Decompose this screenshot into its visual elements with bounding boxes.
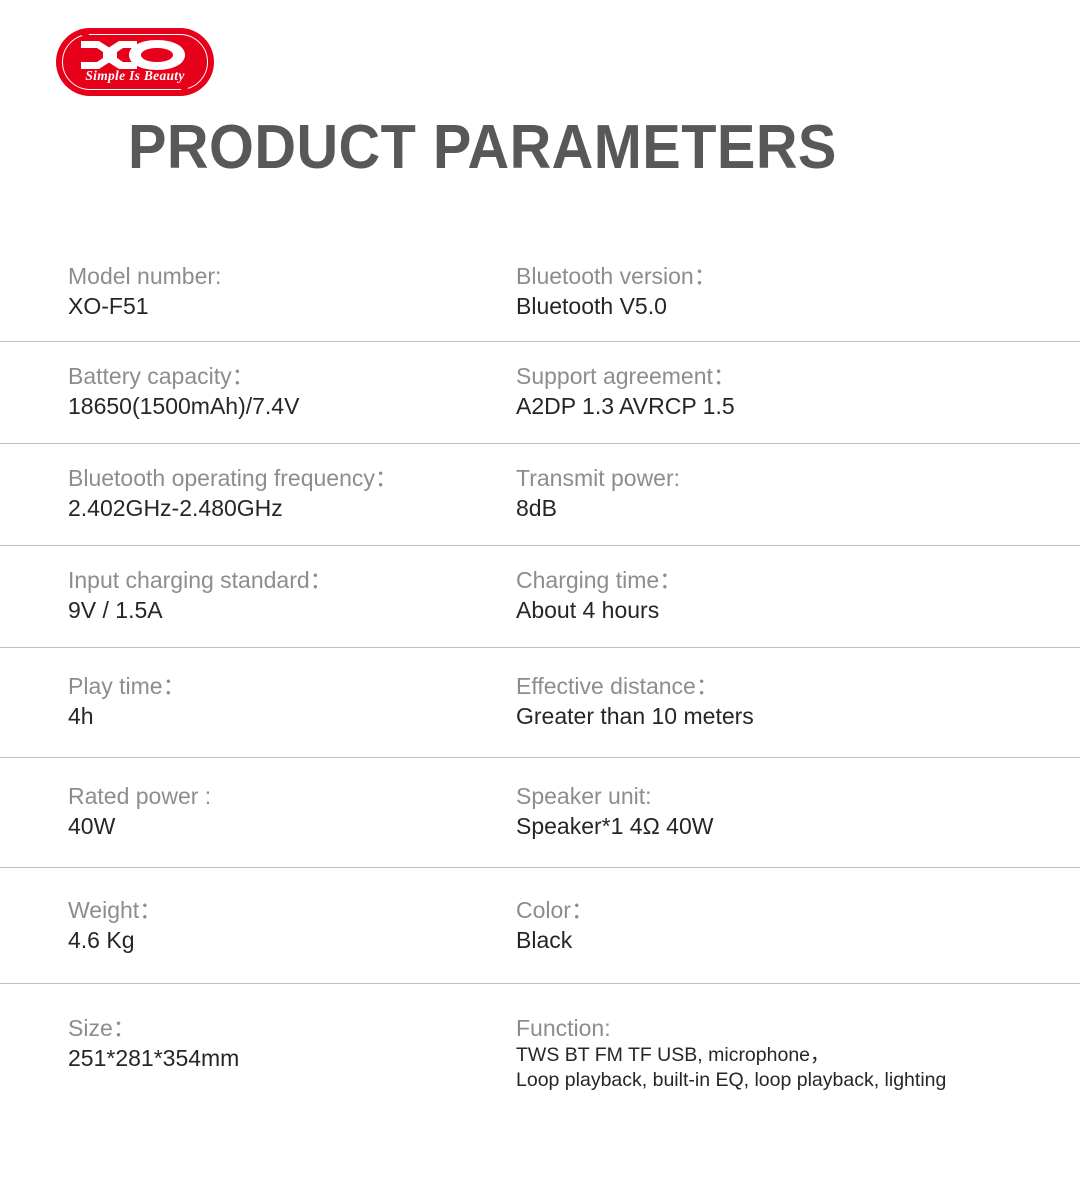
spec-cell-size: Size： 251*281*354mm <box>0 1014 516 1093</box>
spec-label: Size： <box>68 1014 516 1043</box>
spec-cell-function: Function: TWS BT FM TF USB, microphone， … <box>516 1014 1080 1093</box>
spec-cell-transmit-power: Transmit power: 8dB <box>516 464 1080 523</box>
spec-cell-input-charging-standard: Input charging standard： 9V / 1.5A <box>0 566 516 625</box>
spec-cell-support-agreement: Support agreement： A2DP 1.3 AVRCP 1.5 <box>516 362 1080 421</box>
spec-value: 18650(1500mAh)/7.4V <box>68 391 516 421</box>
spec-value: 9V / 1.5A <box>68 595 516 625</box>
spec-label: Play time： <box>68 672 516 701</box>
logo-notch-bottom-right <box>181 86 188 93</box>
spec-cell-model-number: Model number: XO-F51 <box>0 262 516 321</box>
xo-monogram-icon <box>79 39 191 71</box>
spec-cell-battery-capacity: Battery capacity： 18650(1500mAh)/7.4V <box>0 362 516 421</box>
spec-value-line-2: Loop playback, built-in EQ, loop playbac… <box>516 1068 1080 1093</box>
spec-cell-bluetooth-version: Bluetooth version： Bluetooth V5.0 <box>516 262 1080 321</box>
spec-value: About 4 hours <box>516 595 1080 625</box>
spec-value: 2.402GHz-2.480GHz <box>68 493 516 523</box>
spec-cell-effective-distance: Effective distance： Greater than 10 mete… <box>516 672 1080 731</box>
spec-cell-color: Color： Black <box>516 896 1080 955</box>
spec-value: 4.6 Kg <box>68 925 516 955</box>
spec-cell-play-time: Play time： 4h <box>0 672 516 731</box>
spec-label: Function: <box>516 1014 1080 1043</box>
spec-row: Play time： 4h Effective distance： Greate… <box>0 647 1080 757</box>
spec-row: Bluetooth operating frequency： 2.402GHz-… <box>0 443 1080 545</box>
spec-value: 251*281*354mm <box>68 1043 516 1073</box>
spec-row: Input charging standard： 9V / 1.5A Charg… <box>0 545 1080 647</box>
spec-label: Bluetooth version： <box>516 262 1080 291</box>
product-parameters-page: Simple Is Beauty PRODUCT PARAMETERS Mode… <box>0 0 1080 1180</box>
spec-row: Model number: XO-F51 Bluetooth version： … <box>0 246 1080 341</box>
spec-row: Weight： 4.6 Kg Color： Black <box>0 867 1080 983</box>
spec-value: Black <box>516 925 1080 955</box>
spec-value: 8dB <box>516 493 1080 523</box>
spec-label: Speaker unit: <box>516 782 1080 811</box>
xo-brand-logo: Simple Is Beauty <box>56 28 214 96</box>
spec-row: Battery capacity： 18650(1500mAh)/7.4V Su… <box>0 341 1080 443</box>
spec-value: Speaker*1 4Ω 40W <box>516 811 1080 841</box>
spec-value: Bluetooth V5.0 <box>516 291 1080 321</box>
spec-label: Charging time： <box>516 566 1080 595</box>
spec-value: A2DP 1.3 AVRCP 1.5 <box>516 391 1080 421</box>
spec-label: Input charging standard： <box>68 566 516 595</box>
spec-cell-rated-power: Rated power : 40W <box>0 782 516 841</box>
spec-label: Bluetooth operating frequency： <box>68 464 516 493</box>
spec-cell-speaker-unit: Speaker unit: Speaker*1 4Ω 40W <box>516 782 1080 841</box>
page-title: PRODUCT PARAMETERS <box>128 112 837 184</box>
logo-tagline: Simple Is Beauty <box>56 68 214 84</box>
spec-value: XO-F51 <box>68 291 516 321</box>
specifications-table: Model number: XO-F51 Bluetooth version： … <box>0 246 1080 1109</box>
spec-label: Weight： <box>68 896 516 925</box>
spec-value: 40W <box>68 811 516 841</box>
spec-value: 4h <box>68 701 516 731</box>
spec-value: TWS BT FM TF USB, microphone， <box>516 1043 1080 1068</box>
spec-label: Effective distance： <box>516 672 1080 701</box>
spec-label: Battery capacity： <box>68 362 516 391</box>
spec-label: Support agreement： <box>516 362 1080 391</box>
spec-cell-weight: Weight： 4.6 Kg <box>0 896 516 955</box>
spec-label: Transmit power: <box>516 464 1080 493</box>
spec-label: Rated power : <box>68 782 516 811</box>
spec-label: Color： <box>516 896 1080 925</box>
spec-label: Model number: <box>68 262 516 291</box>
logo-notch-top-left <box>82 32 89 39</box>
spec-row: Size： 251*281*354mm Function: TWS BT FM … <box>0 983 1080 1109</box>
spec-row: Rated power : 40W Speaker unit: Speaker*… <box>0 757 1080 867</box>
spec-cell-bluetooth-operating-frequency: Bluetooth operating frequency： 2.402GHz-… <box>0 464 516 523</box>
spec-cell-charging-time: Charging time： About 4 hours <box>516 566 1080 625</box>
spec-value: Greater than 10 meters <box>516 701 1080 731</box>
